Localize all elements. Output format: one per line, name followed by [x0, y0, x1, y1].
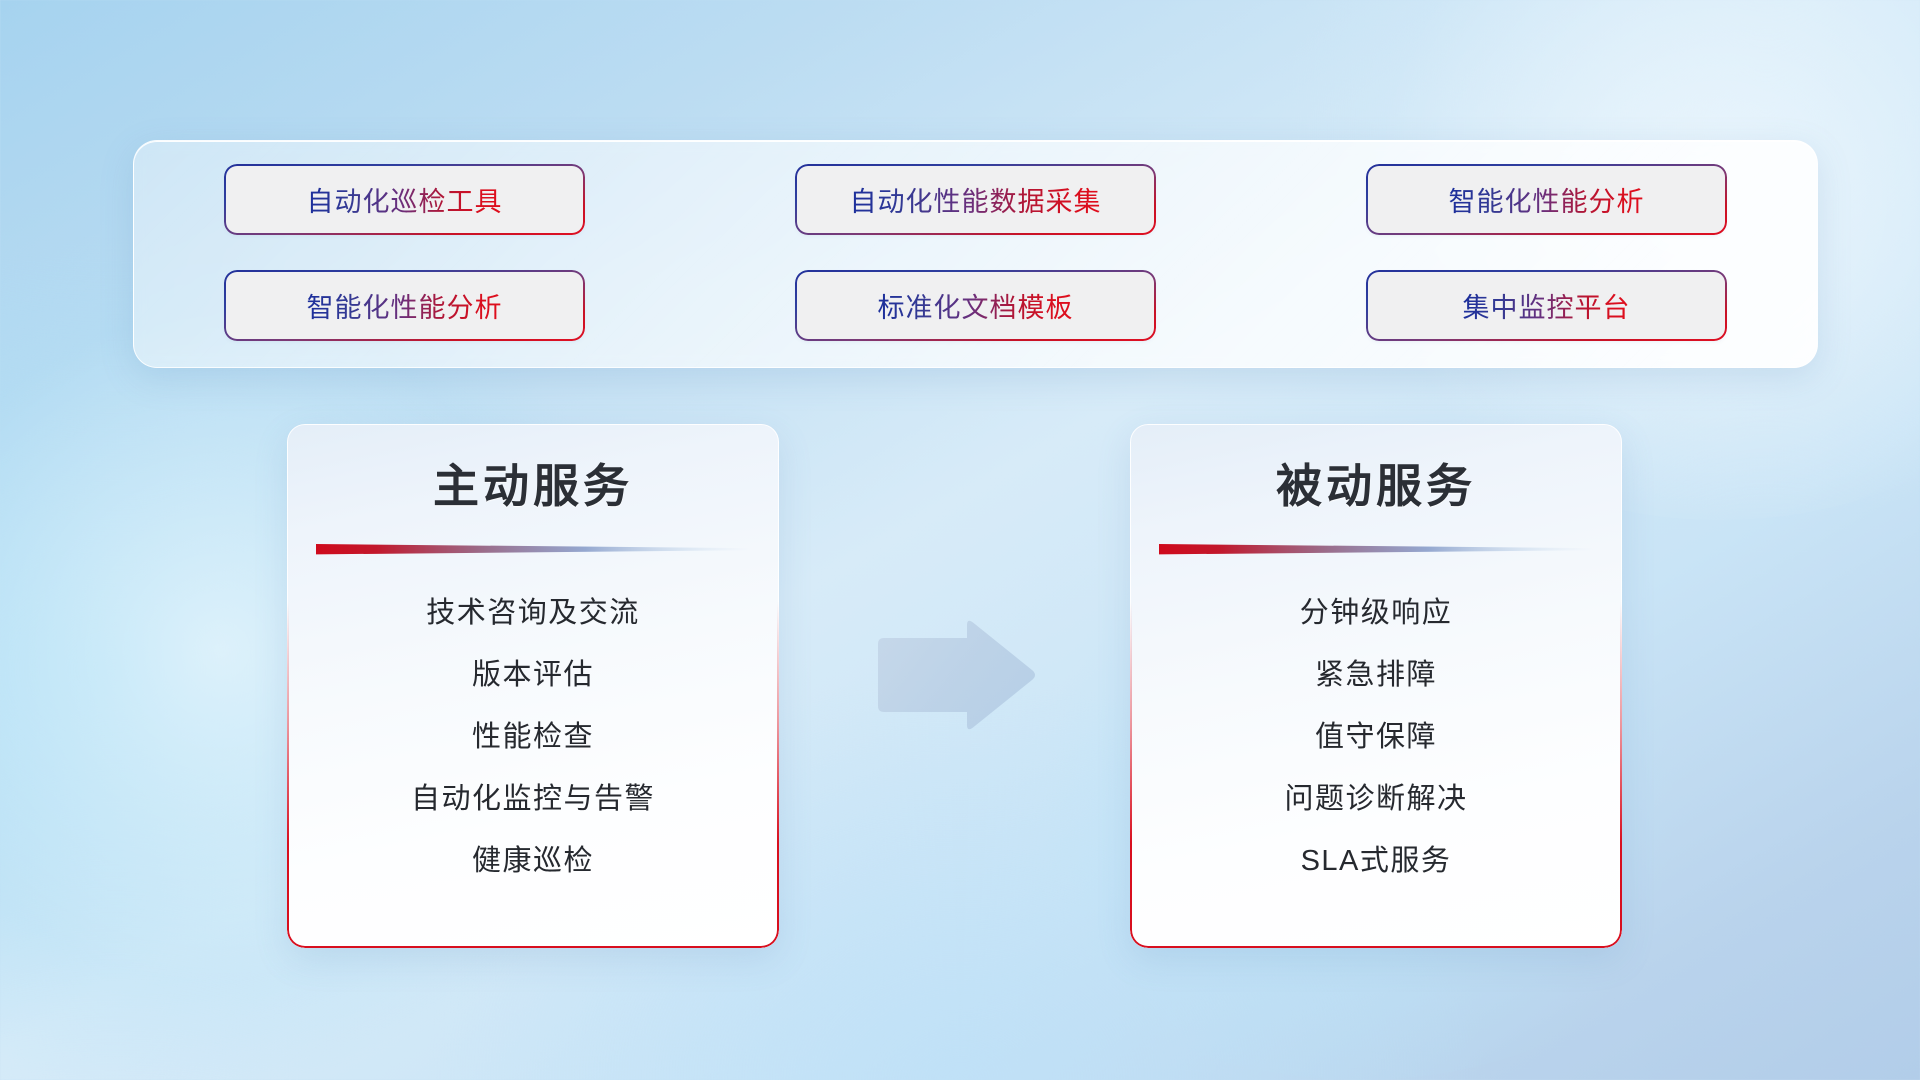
list-item: 紧急排障: [1315, 651, 1437, 693]
capability-tag-label: 标准化文档模板: [878, 286, 1074, 325]
service-card-title: 被动服务: [1130, 450, 1622, 516]
service-card-reactive: 被动服务 分钟级响应 紧急排障 值守保障 问题诊断解决 SLA式服务: [1130, 424, 1622, 948]
service-item-list: 技术咨询及交流 版本评估 性能检查 自动化监控与告警 健康巡检: [287, 589, 779, 879]
capability-tag-6[interactable]: 集中监控平台: [1368, 272, 1725, 339]
right-arrow-icon: [872, 616, 1038, 734]
title-divider: [1159, 542, 1593, 555]
capability-tag-5[interactable]: 标准化文档模板: [797, 272, 1154, 339]
capability-tag-label: 自动化性能数据采集: [850, 180, 1102, 219]
service-item-list: 分钟级响应 紧急排障 值守保障 问题诊断解决 SLA式服务: [1130, 589, 1622, 879]
capability-tag-label: 集中监控平台: [1463, 286, 1631, 325]
list-item: 健康巡检: [472, 837, 594, 879]
capability-tag-4[interactable]: 智能化性能分析: [226, 272, 583, 339]
title-divider: [316, 542, 750, 555]
capability-tag-1[interactable]: 自动化巡检工具: [226, 166, 583, 233]
service-card-proactive: 主动服务 技术咨询及交流 版本评估 性能检查 自动化监控与告警 健康巡检: [287, 424, 779, 948]
capability-tags-panel: 自动化巡检工具 自动化性能数据采集 智能化性能分析 智能化性能分析 标准化文档模…: [133, 140, 1818, 368]
list-item: 自动化监控与告警: [411, 775, 655, 817]
capability-tag-label: 智能化性能分析: [307, 286, 503, 325]
list-item: 值守保障: [1315, 713, 1437, 755]
capability-tag-2[interactable]: 自动化性能数据采集: [797, 166, 1154, 233]
list-item: 性能检查: [472, 713, 594, 755]
capability-tag-grid: 自动化巡检工具 自动化性能数据采集 智能化性能分析 智能化性能分析 标准化文档模…: [134, 141, 1817, 367]
list-item: 分钟级响应: [1300, 589, 1453, 631]
list-item: SLA式服务: [1301, 837, 1452, 879]
capability-tag-label: 自动化巡检工具: [307, 180, 503, 219]
list-item: 问题诊断解决: [1284, 775, 1467, 817]
list-item: 技术咨询及交流: [426, 589, 640, 631]
capability-tag-3[interactable]: 智能化性能分析: [1368, 166, 1725, 233]
capability-tag-label: 智能化性能分析: [1449, 180, 1645, 219]
service-card-title: 主动服务: [287, 450, 779, 516]
list-item: 版本评估: [472, 651, 594, 693]
